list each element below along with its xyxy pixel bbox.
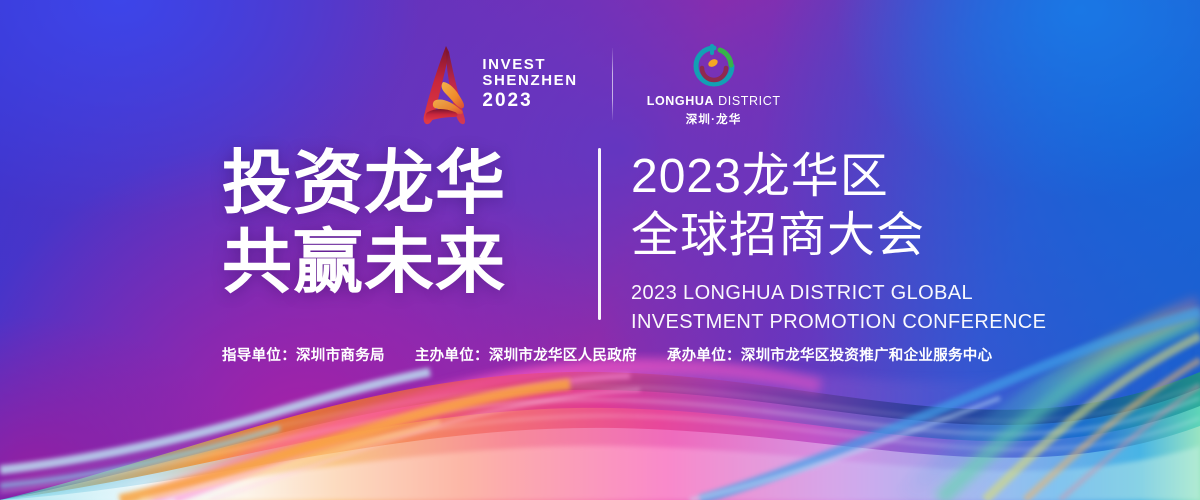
longhua-district-logo[interactable]: LONGHUA DISTRICT 深圳·龙华 xyxy=(647,41,781,127)
event-title-en: 2023 LONGHUA DISTRICT GLOBAL INVESTMENT … xyxy=(631,279,1046,337)
organizer-role-0: 指导单位： xyxy=(222,344,296,365)
longhua-en-light: DISTRICT xyxy=(718,94,780,108)
headline-line1: 投资龙华 xyxy=(222,146,572,221)
headline-line2: 共赢未来 xyxy=(222,225,572,300)
longhua-en-bold: LONGHUA xyxy=(647,94,714,108)
event-title-cn: 2023龙华区 全球招商大会 xyxy=(631,148,925,265)
event-banner: INVEST SHENZHEN 2023 LONGHUA DISTRICT 深圳… xyxy=(0,0,1200,500)
invest-line1: INVEST xyxy=(482,57,577,73)
headline-slogan: 投资龙华 共赢未来 xyxy=(222,146,572,300)
event-title-cn-line2: 全球招商大会 xyxy=(631,207,925,266)
organizer-role-1: 主办单位： xyxy=(415,344,489,365)
logo-row: INVEST SHENZHEN 2023 LONGHUA DISTRICT 深圳… xyxy=(0,36,1200,132)
invest-shenzhen-mark xyxy=(419,42,473,126)
event-title-en-line1: 2023 LONGHUA DISTRICT GLOBAL xyxy=(631,279,1046,308)
invest-year: 2023 xyxy=(482,91,577,112)
event-title-en-line2: INVESTMENT PROMOTION CONFERENCE xyxy=(631,308,1046,337)
event-title-cn-line1: 2023龙华区 xyxy=(631,148,925,207)
invest-line2: SHENZHEN xyxy=(482,73,577,89)
organizer-name-0: 深圳市商务局 xyxy=(296,344,385,365)
organizer-name-1: 深圳市龙华区人民政府 xyxy=(489,344,637,365)
logo-separator xyxy=(612,48,613,120)
organizer-list: 指导单位：深圳市商务局 主办单位：深圳市龙华区人民政府 承办单位：深圳市龙华区投… xyxy=(222,344,992,365)
organizer-role-2: 承办单位： xyxy=(667,344,741,365)
invest-shenzhen-logo[interactable]: INVEST SHENZHEN 2023 xyxy=(419,39,577,129)
organizer-name-2: 深圳市龙华区投资推广和企业服务中心 xyxy=(741,344,993,365)
longhua-cn-label: 深圳·龙华 xyxy=(686,111,742,127)
longhua-district-circle-mark xyxy=(688,41,740,91)
longhua-wordmark: LONGHUA DISTRICT xyxy=(647,94,781,108)
invest-shenzhen-wordmark: INVEST SHENZHEN 2023 xyxy=(482,57,577,112)
title-divider xyxy=(598,148,601,320)
